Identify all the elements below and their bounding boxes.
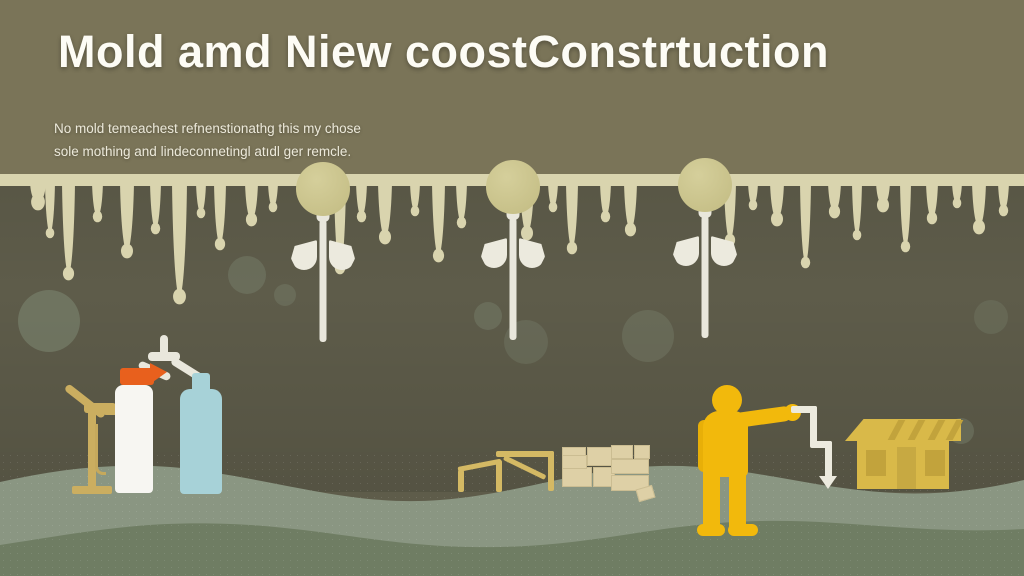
mold-drip-tip [549, 202, 558, 213]
poster-canvas: Mold amd Niew coostConstrtuction No mold… [0, 0, 1024, 576]
mold-drip-tip [953, 198, 962, 209]
mold-drip [566, 182, 578, 248]
ground-lower [0, 505, 1024, 576]
block [611, 445, 633, 459]
scaffold-beam [496, 460, 502, 492]
house-window [925, 450, 945, 476]
house-door [897, 447, 916, 489]
mold-drip [120, 182, 134, 251]
mold-drip-tip [246, 213, 257, 227]
spray-bottle-white [115, 385, 153, 493]
hand-pump-base [72, 486, 112, 494]
house-window [866, 450, 886, 476]
mold-drip-tip [853, 230, 862, 241]
mold-drip [62, 182, 75, 274]
spray-wand-tip [819, 476, 837, 489]
mold-drip-tip [829, 205, 840, 219]
spore-stem [702, 216, 709, 338]
spray-nozzle-orange [120, 368, 154, 385]
bottle-teal [180, 389, 222, 494]
mold-drip-tip [173, 289, 186, 305]
mold-drip [800, 182, 811, 263]
mold-drip-tip [457, 217, 466, 229]
mold-drip [172, 182, 187, 297]
block [587, 447, 613, 466]
spray-wand-segment [810, 406, 817, 446]
mold-drip-tip [927, 212, 937, 225]
mold-drip-tip [999, 205, 1008, 217]
bokeh-blob-2 [228, 256, 266, 294]
mold-drip-tip [877, 198, 889, 213]
mold-drip-tip [197, 208, 206, 219]
bokeh-blob-3 [274, 284, 296, 306]
mold-drip [45, 182, 55, 233]
bokeh-blob-1 [18, 290, 80, 352]
mold-drip [900, 182, 911, 247]
mold-drip [852, 182, 862, 235]
mold-drip-tip [411, 206, 420, 217]
scaffold-beam [458, 470, 464, 492]
spore-stem [510, 218, 517, 340]
worker-foot-left [697, 524, 725, 536]
mold-drip-tip [771, 212, 783, 227]
mold-drip-tip [151, 223, 160, 235]
mold-drip-tip [973, 220, 985, 235]
spore-cap [486, 160, 540, 214]
page-title: Mold amd Niew coostConstrtuction [58, 28, 978, 75]
mold-drip-tip [31, 194, 45, 211]
block [562, 455, 587, 469]
mold-drip [150, 182, 161, 229]
worker-head [712, 385, 742, 415]
spore-cap [296, 162, 350, 216]
mold-drip [378, 182, 392, 237]
mold-drip-tip [901, 241, 910, 253]
mold-drip [432, 182, 445, 256]
mold-spore-center [486, 160, 540, 350]
mold-drip [214, 182, 226, 244]
mold-drip-tip [749, 200, 758, 211]
mold-drip-tip [269, 202, 278, 213]
mold-drip-tip [567, 242, 577, 255]
block [611, 459, 649, 474]
block [634, 445, 650, 459]
subtitle-line-2: sole mothing and lindeconnetingl atıdl g… [54, 140, 614, 163]
spore-cap [678, 158, 732, 212]
worker-leg-left [703, 468, 720, 532]
mold-drip-tip [357, 211, 366, 223]
mold-drip-tip [93, 211, 102, 223]
bokeh-blob-6 [622, 310, 674, 362]
spray-nozzle-tip [150, 363, 167, 384]
mold-drip-tip [379, 230, 391, 245]
mold-drip-tip [625, 223, 636, 237]
block [562, 467, 592, 487]
worker-foot-right [728, 524, 758, 536]
scaffold-beam [548, 451, 554, 491]
subtitle-line-1: No mold temeachest refnenstionathg this … [54, 117, 614, 140]
mold-drip-tip [215, 238, 225, 251]
mold-drip-tip [121, 244, 133, 259]
mold-drip-tip [601, 211, 610, 223]
mold-spore-right [678, 158, 732, 348]
mold-drip [456, 182, 467, 223]
mold-drip-tip [433, 249, 444, 263]
spore-stem [320, 220, 327, 342]
mold-drip [624, 182, 637, 230]
bokeh-blob-8 [974, 300, 1008, 334]
mold-drip-tip [46, 228, 55, 239]
hand-pump-hose [95, 424, 106, 475]
mold-drip-tip [63, 267, 74, 281]
mold-spore-left [296, 162, 350, 352]
page-subtitle: No mold temeachest refnenstionathg this … [54, 117, 614, 163]
mold-drip-tip [801, 257, 810, 269]
worker-leg-right [729, 468, 746, 532]
